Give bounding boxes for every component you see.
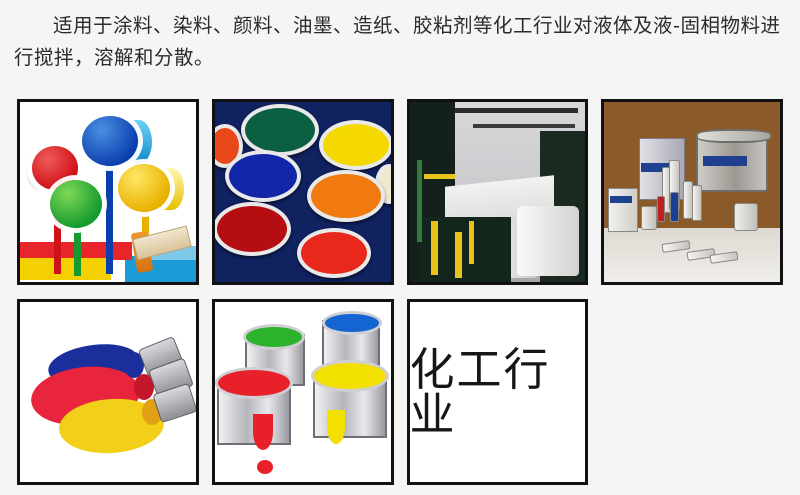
gallery-cell-spilled-paint[interactable]: 三个翻倒的颜料罐流出蓝色、红色和黄色油漆 [17, 299, 199, 485]
gallery-cell-adhesive-products[interactable]: 棕色背景上的信越（Shin-Etsu）胶粘剂与密封胶产品系列 [601, 99, 783, 285]
gallery-cell-empty: 空白占位 [601, 299, 783, 485]
page-caption: 适用于涂料、染料、颜料、油墨、造纸、胶粘剂等化工行业对液体及液-固相物料进行搅拌… [14, 10, 786, 74]
spilled-paint-cans-photo [20, 302, 196, 482]
gallery-cell-paint-cans-pouring[interactable]: 四个颜料桶倾倒红、蓝、绿、黄油漆，下方有油漆刷 [17, 99, 199, 285]
paper-mill-machine-photo [410, 102, 586, 282]
page-root: 适用于涂料、染料、颜料、油墨、造纸、胶粘剂等化工行业对液体及液-固相物料进行搅拌… [0, 0, 800, 495]
industry-label-text: 化工行业 [410, 347, 586, 437]
gallery-cell-industry-label[interactable]: 化工行业 [407, 299, 589, 485]
gallery-cell-open-paint-tins[interactable]: 深蓝背景上俯视的多个敞口颜料罐 [212, 99, 394, 285]
paint-cans-pouring-photo [20, 102, 196, 282]
image-gallery-grid: 四个颜料桶倾倒红、蓝、绿、黄油漆，下方有油漆刷 深蓝背景上俯视的多个敞口颜料罐 [17, 99, 783, 485]
adhesive-sealant-products-photo [604, 102, 780, 282]
gallery-cell-paper-mill[interactable]: 造纸厂造纸机与大型纸卷 [407, 99, 589, 285]
gallery-cell-overflowing-buckets[interactable]: 四个镀锌漆桶盛满并溢出绿、蓝、红、黄油漆 [212, 299, 394, 485]
open-paint-tins-photo [215, 102, 391, 282]
overflowing-paint-buckets-photo [215, 302, 391, 482]
